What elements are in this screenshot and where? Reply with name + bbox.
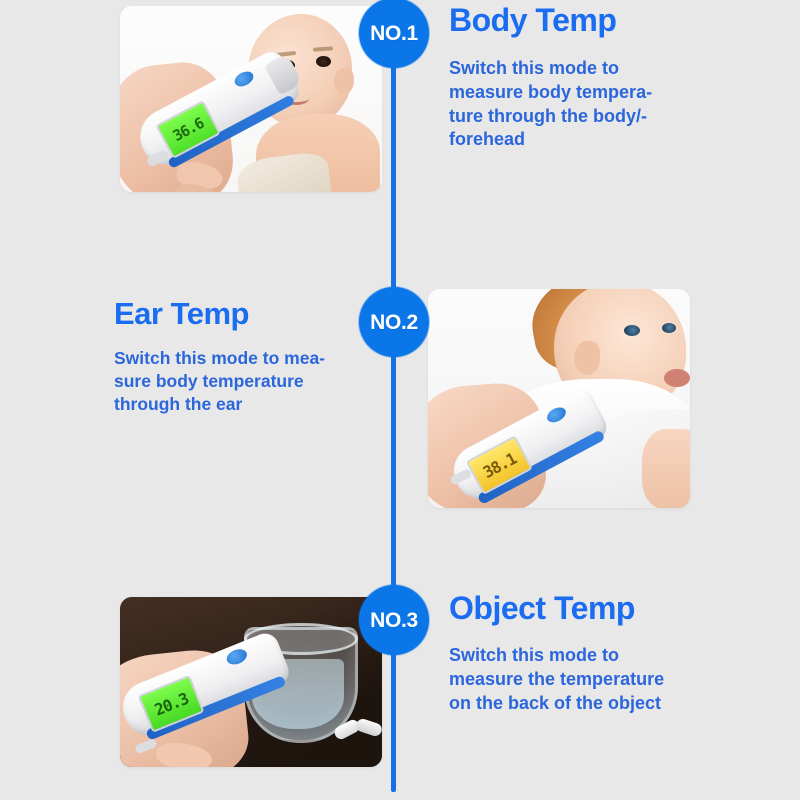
step-badge-2: NO.2 <box>359 287 429 357</box>
baby-ear-measurement-photo: 38.1 <box>428 289 690 508</box>
baby-eye-left <box>624 325 640 336</box>
baby-eye-right <box>316 56 331 67</box>
baby-ear <box>334 68 354 94</box>
hand-finger-upper <box>155 740 214 767</box>
baby-ear <box>574 341 600 375</box>
thermometer-power-button <box>224 646 249 667</box>
section-1-body: Switch this mode to measure body tempera… <box>449 57 759 152</box>
object-water-glass-measurement-photo: 20.3 <box>120 597 382 767</box>
step-badge-3: NO.3 <box>359 585 429 655</box>
section-2-heading: Ear Temp <box>114 298 376 329</box>
blanket <box>235 151 333 192</box>
thermometer-reading: 20.3 <box>152 689 191 720</box>
step-badge-3-label: NO.3 <box>370 610 418 631</box>
section-2-text: Ear Temp Switch this mode to mea- sure b… <box>114 298 376 416</box>
baby-arm <box>642 429 690 508</box>
baby-forehead-measurement-photo: 36.6 <box>120 6 382 192</box>
infographic-page: 36.6 NO.1 Body Temp Switch this mode to … <box>0 0 800 800</box>
thermometer-reading: 38.1 <box>480 449 519 482</box>
baby-mouth <box>664 369 690 387</box>
step-badge-1: NO.1 <box>359 0 429 68</box>
thermometer-lcd-screen: 20.3 <box>138 675 205 733</box>
scene-object: 20.3 <box>120 597 382 767</box>
thermometer-power-button <box>232 69 256 90</box>
section-2-body: Switch this mode to mea- sure body tempe… <box>114 347 376 416</box>
section-1-text: Body Temp Switch this mode to measure bo… <box>449 4 759 152</box>
thermometer-lcd-screen: 38.1 <box>466 435 533 495</box>
baby-eye-right <box>662 323 676 333</box>
section-3-body: Switch this mode to measure the temperat… <box>449 644 769 715</box>
thermometer-reading: 36.6 <box>170 114 207 145</box>
step-badge-1-label: NO.1 <box>370 23 418 44</box>
adult-hand: 20.3 <box>120 645 252 767</box>
step-badge-2-label: NO.2 <box>370 312 418 333</box>
thermometer-power-button <box>545 404 569 425</box>
thermometer-grip-detail <box>134 738 158 755</box>
adult-hand: 36.6 <box>120 58 237 192</box>
section-1-heading: Body Temp <box>449 4 759 36</box>
timeline-spine <box>391 0 396 792</box>
hand-finger-upper <box>472 506 527 508</box>
section-3-heading: Object Temp <box>449 592 769 624</box>
scene-forehead: 36.6 <box>120 6 382 192</box>
scene-ear: 38.1 <box>428 289 690 508</box>
adult-hand: 38.1 <box>428 381 548 508</box>
section-3-text: Object Temp Switch this mode to measure … <box>449 592 769 715</box>
